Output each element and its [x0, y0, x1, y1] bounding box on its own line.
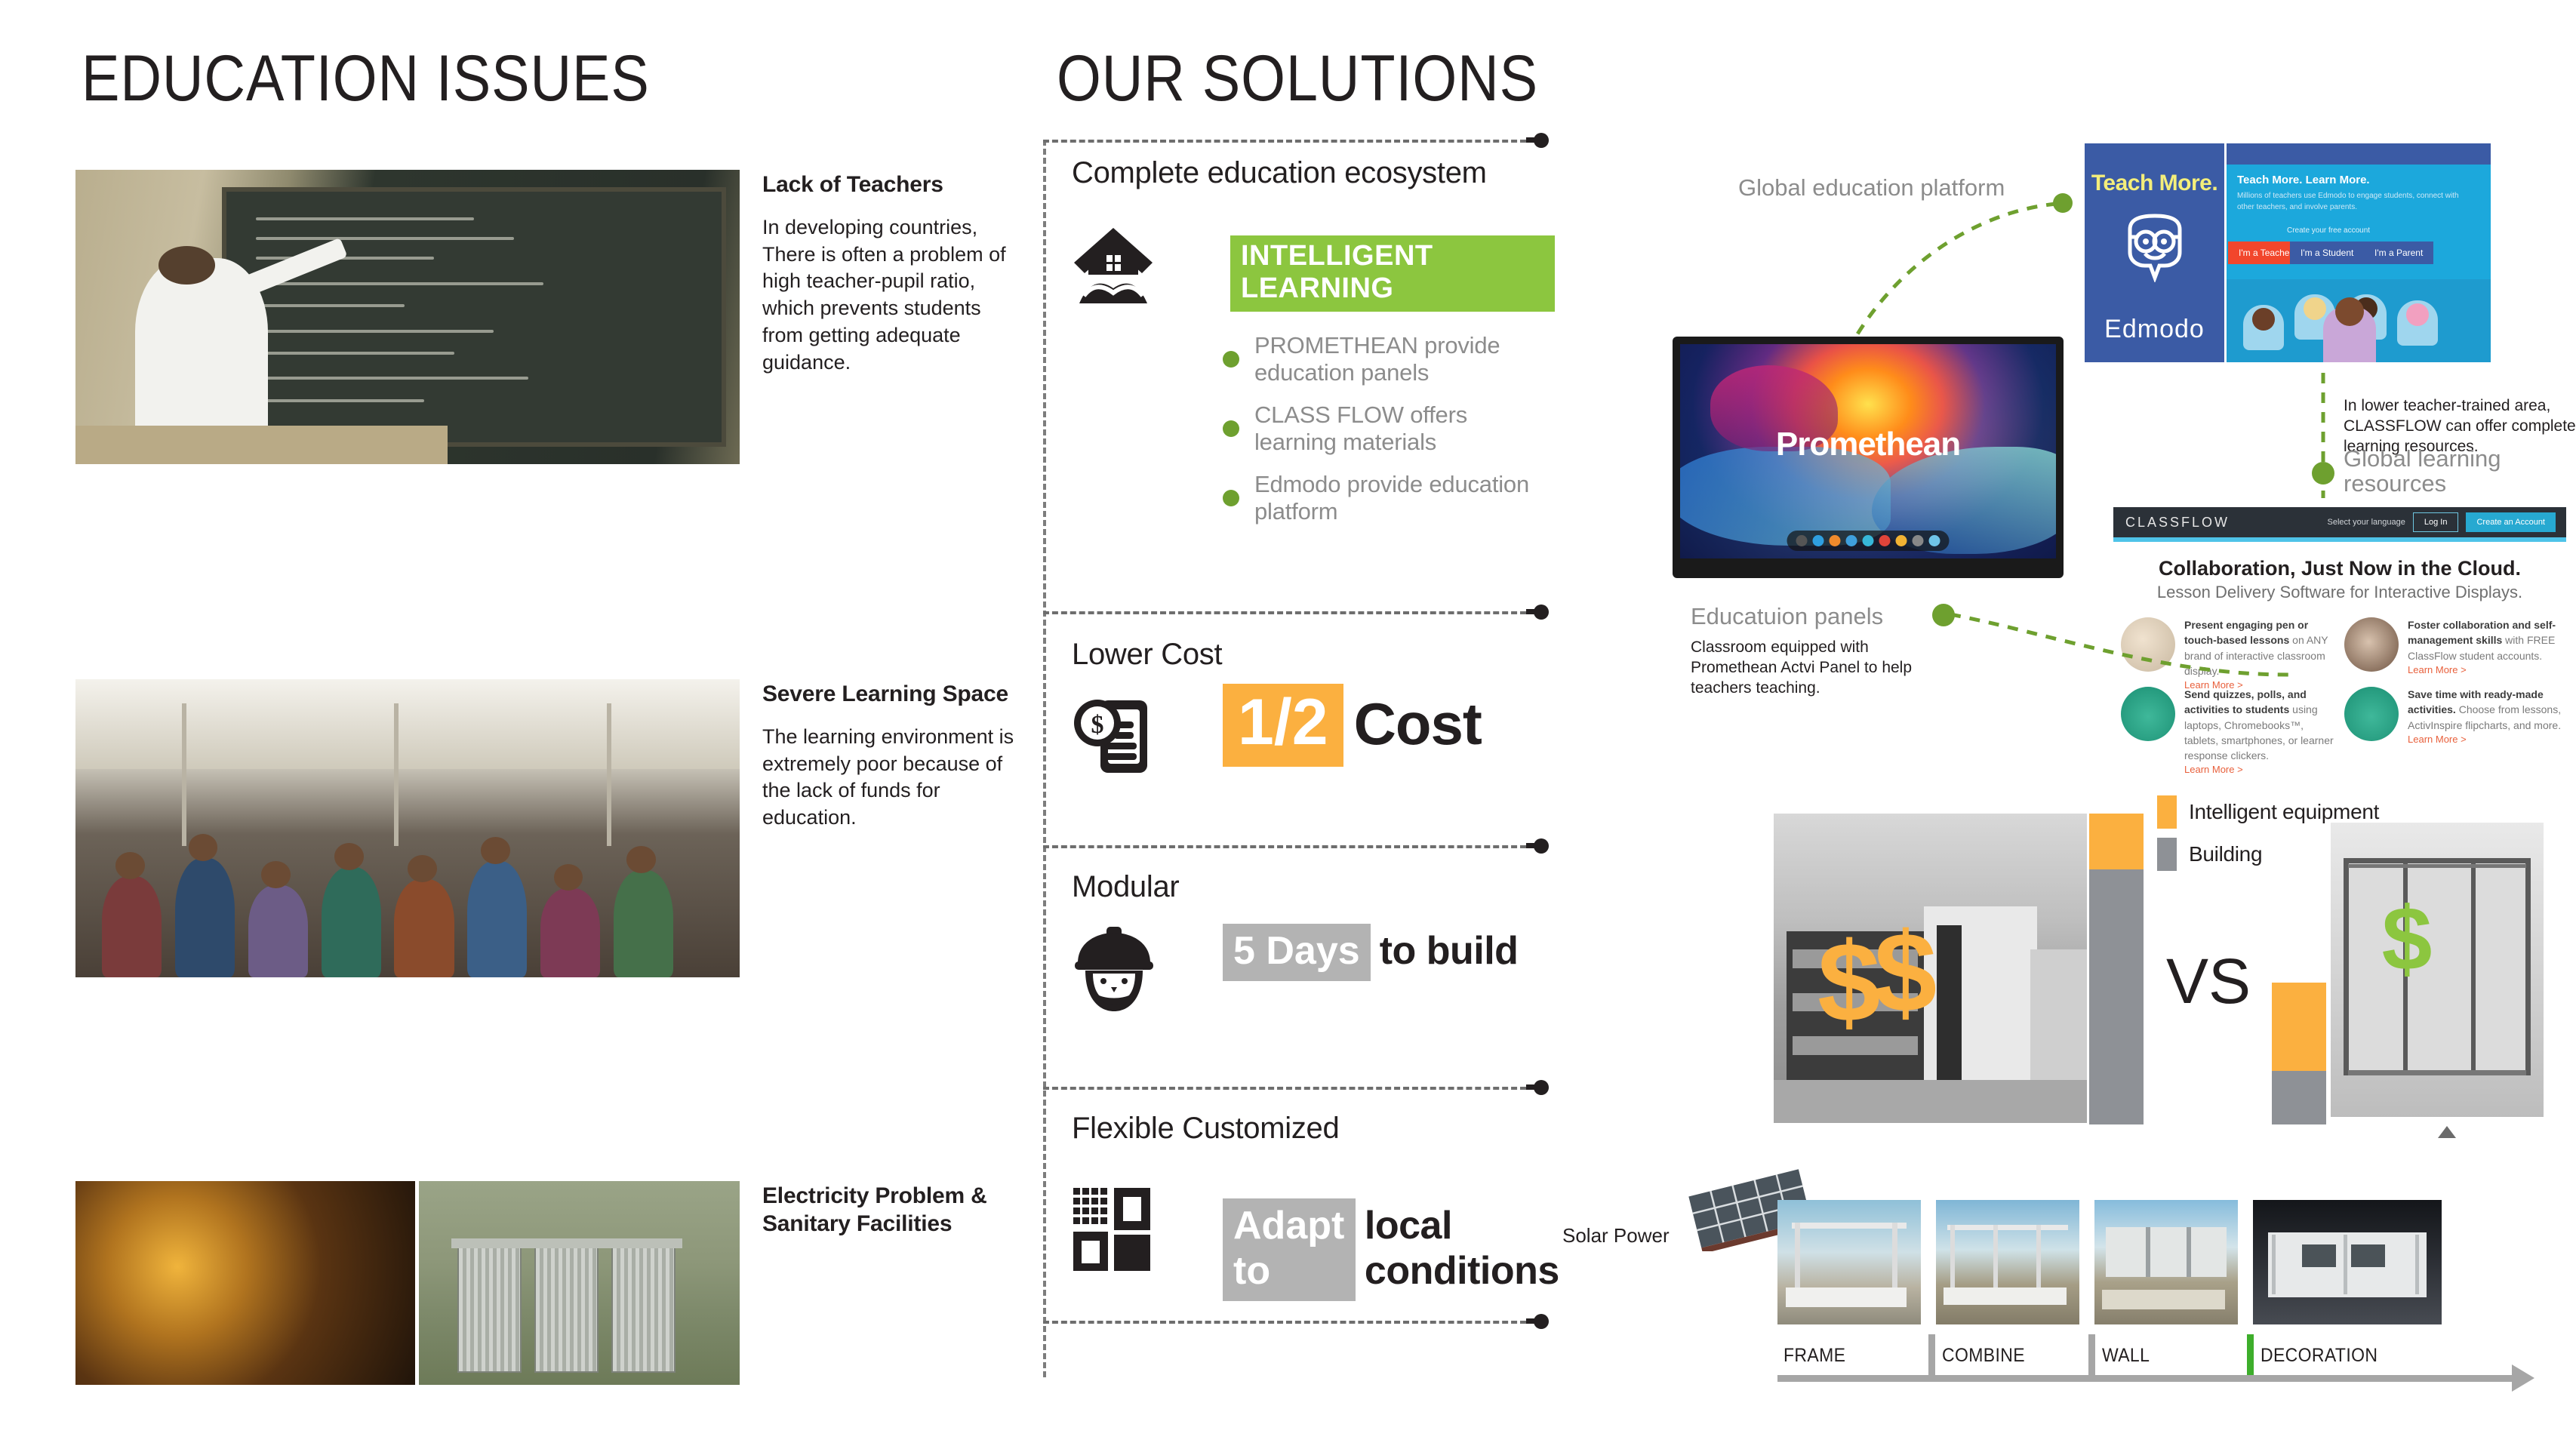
- bar-traditional: [2089, 814, 2144, 1124]
- page-title-solutions: OUR SOLUTIONS: [1057, 42, 1538, 116]
- modular-blocks-icon: [1072, 1185, 1153, 1272]
- children-by-lamp-photo: [75, 1181, 415, 1385]
- highlight-half-cost: 1/2: [1223, 684, 1343, 767]
- bullet-dot-icon: [1223, 351, 1239, 368]
- highlight-five-days: 5 Days: [1223, 924, 1371, 981]
- bullet-label: PROMETHEAN provide education panels: [1254, 332, 1555, 386]
- dollar-sign-icon: $: [2382, 894, 2433, 984]
- issue-title: Severe Learning Space: [762, 681, 1023, 709]
- process-tick: [2088, 1334, 2095, 1375]
- solution-ecosystem: Complete education ecosystem INTELLIGENT…: [1072, 156, 1555, 540]
- legend-label: Intelligent equipment: [2189, 800, 2379, 824]
- list-item: CLASS FLOW offers learning materials: [1223, 401, 1555, 456]
- modular-tail: to build: [1380, 928, 1519, 974]
- legend-swatch-intelligent-equipment: [2157, 795, 2177, 829]
- process-photo-decoration: [2253, 1200, 2442, 1324]
- dollar-sign-icon: $: [1874, 915, 1937, 1029]
- issue-title: Electricity Problem & Sanitary Facilitie…: [762, 1183, 1034, 1238]
- edmodo-brand-name: Edmodo: [2104, 315, 2205, 344]
- bullet-dot-icon: [1223, 490, 1239, 506]
- flexible-tail: local conditions: [1365, 1203, 1570, 1294]
- classflow-signup-button[interactable]: Create an Account: [2466, 512, 2556, 532]
- solution-label: Modular: [1072, 870, 1555, 904]
- process-photo-wall: [2094, 1200, 2238, 1324]
- edmodo-promo-screenshot: Teach More. Learn More. Millions of teac…: [2227, 143, 2491, 362]
- solution-modular: Modular 5 Days to build: [1072, 870, 1555, 1022]
- process-step-label-decoration: DECORATION: [2261, 1345, 2377, 1367]
- divider-dashed: [1043, 1087, 1526, 1090]
- panel-left-dashed-border: [1043, 140, 1046, 1377]
- divider-dashed: [1043, 1321, 1526, 1324]
- solution-lower-cost: Lower Cost $ 1/2 Cost: [1072, 638, 1555, 795]
- latrines-photo: [419, 1181, 740, 1385]
- solutions-panel: Complete education ecosystem INTELLIGENT…: [1043, 140, 1564, 1377]
- teacher-at-blackboard-photo: [75, 170, 740, 464]
- list-item: PROMETHEAN provide education panels: [1223, 332, 1555, 386]
- flashcards-icon: [2344, 687, 2399, 741]
- promethean-brand-text: Promethean: [1776, 426, 1960, 463]
- edmodo-teach-more-text: Teach More.: [2091, 171, 2217, 196]
- process-tick-active: [2247, 1334, 2254, 1375]
- devices-icon: [2121, 687, 2175, 741]
- process-step-label-wall: WALL: [2102, 1345, 2150, 1367]
- chart-marker-arrow: [2438, 1126, 2456, 1138]
- promo-heading: Teach More. Learn More.: [2237, 174, 2370, 186]
- divider-dashed: [1043, 611, 1526, 614]
- process-tick: [1928, 1334, 1935, 1375]
- divider-node-dot: [1534, 838, 1549, 854]
- legend-swatch-building: [2157, 838, 2177, 871]
- vs-label: VS: [2166, 945, 2251, 1018]
- connector-curve-panels: [1940, 611, 2317, 694]
- classflow-subheading: Lesson Delivery Software for Interactive…: [2113, 583, 2566, 602]
- process-step-label-combine: COMBINE: [1942, 1345, 2025, 1367]
- bullet-dot-icon: [1223, 420, 1239, 437]
- issue-text-block: Lack of Teachers In developing countries…: [762, 171, 1023, 377]
- issue-body: The learning environment is extremely po…: [762, 724, 1023, 832]
- promethean-display-photo: Promethean: [1673, 337, 2064, 578]
- classflow-feature-card: Foster collaboration and self-management…: [2344, 617, 2563, 678]
- card-learn-more-link[interactable]: Learn More >: [2408, 663, 2563, 678]
- classflow-heading: Collaboration, Just Now in the Cloud.: [2113, 557, 2566, 580]
- house-school-icon: [1072, 226, 1155, 305]
- process-photo-combine: [1936, 1200, 2079, 1324]
- students-tablet-photo: [2344, 617, 2399, 672]
- bar-modular: [2272, 983, 2326, 1124]
- bar-segment-building: [2089, 869, 2144, 1124]
- classflow-language-select[interactable]: Select your language: [2328, 518, 2405, 527]
- classflow-feature-card: Save time with ready-made activities. Ch…: [2344, 687, 2563, 747]
- dollar-sign-icon: $: [1817, 925, 1880, 1038]
- construction-worker-icon: [1072, 924, 1156, 1014]
- bullet-label: CLASS FLOW offers learning materials: [1254, 401, 1555, 456]
- bar-segment-intelligent-equipment: [2272, 983, 2326, 1071]
- connector-node-resources: [2312, 462, 2334, 485]
- global-learning-resources-label: Global learning resources: [2344, 447, 2570, 497]
- issue-text-block: Severe Learning Space The learning envir…: [762, 681, 1023, 832]
- edmodo-owl-icon: [2122, 213, 2187, 282]
- solution-label: Complete education ecosystem: [1072, 156, 1555, 190]
- highlight-adapt-to: Adapt to: [1223, 1198, 1356, 1301]
- divider-node-dot: [1534, 605, 1549, 620]
- divider-node-dot: [1534, 133, 1549, 148]
- process-axis-line: [1777, 1375, 2513, 1382]
- bar-segment-intelligent-equipment: [2089, 814, 2144, 869]
- highlight-intelligent-learning: INTELLIGENT LEARNING: [1230, 235, 1555, 312]
- connector-line-resources: [2311, 370, 2341, 521]
- issue-body: In developing countries, There is often …: [762, 214, 1023, 377]
- edmodo-brand-card: Teach More. Edmodo: [2085, 143, 2224, 362]
- list-item: Edmodo provide education platform: [1223, 471, 1555, 525]
- svg-text:$: $: [1091, 711, 1104, 739]
- bar-segment-building: [2272, 1071, 2326, 1124]
- promo-cta-text: Create your free account: [2287, 226, 2370, 235]
- process-step-label-frame: FRAME: [1784, 1345, 1845, 1367]
- card-learn-more-link[interactable]: Learn More >: [2408, 733, 2563, 747]
- lower-cost-tail: Cost: [1354, 690, 1482, 758]
- divider-dashed: [1043, 845, 1526, 848]
- classflow-login-button[interactable]: Log In: [2413, 512, 2459, 532]
- divider-node-dot: [1534, 1080, 1549, 1095]
- slide-root: EDUCATION ISSUES OUR SOLUTIONS: [0, 0, 2576, 1449]
- card-learn-more-link[interactable]: Learn More >: [2184, 763, 2340, 777]
- solar-power-label: Solar Power: [1562, 1224, 1670, 1247]
- classflow-logo: CLASSFLOW: [2125, 515, 2230, 531]
- process-arrow-icon: [2512, 1364, 2534, 1392]
- legend-label: Building: [2189, 842, 2262, 866]
- tent-classroom-photo: [75, 679, 740, 977]
- education-panels-title: Educatuion panels: [1691, 604, 1883, 630]
- process-photo-frame: [1777, 1200, 1921, 1324]
- invoice-dollar-icon: $: [1072, 690, 1161, 779]
- issue-text-block: Electricity Problem & Sanitary Facilitie…: [762, 1183, 1034, 1253]
- divider-node-dot: [1534, 1314, 1549, 1329]
- solution-label: Lower Cost: [1072, 638, 1555, 672]
- education-panels-note: Classroom equipped with Promethean Actvi…: [1691, 638, 1940, 699]
- page-title-issues: EDUCATION ISSUES: [82, 42, 650, 116]
- solution-flexible: Flexible Customized: [1072, 1112, 1570, 1283]
- solution-label: Flexible Customized: [1072, 1112, 1570, 1146]
- bullet-label: Edmodo provide education platform: [1254, 471, 1555, 525]
- promo-body: Millions of teachers use Edmodo to engag…: [2237, 190, 2464, 213]
- chart-legend: Intelligent equipment Building: [2157, 795, 2379, 871]
- ecosystem-bullet-list: PROMETHEAN provide education panels CLAS…: [1223, 332, 1555, 525]
- classflow-feature-card: Send quizzes, polls, and activities to s…: [2121, 687, 2340, 777]
- build-process-strip: FRAME COMBINE WALL DECORATION: [1777, 1200, 2540, 1389]
- traditional-building-photo: $ $: [1774, 814, 2087, 1123]
- cost-comparison-chart: $ $ VS $ Intelligent equipm: [1774, 800, 2544, 1124]
- promo-button-parent[interactable]: I'm a Parent: [2364, 241, 2433, 264]
- divider-dashed: [1043, 140, 1526, 143]
- issue-title: Lack of Teachers: [762, 171, 1023, 199]
- promo-button-student[interactable]: I'm a Student: [2290, 241, 2364, 264]
